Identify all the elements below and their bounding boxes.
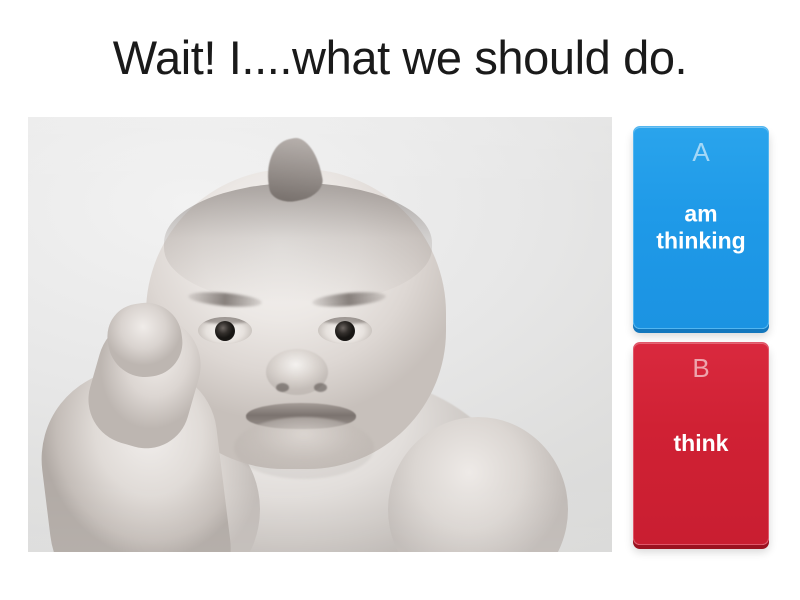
baby-illustration [28, 117, 612, 552]
baby-pupil-left [215, 321, 235, 341]
answer-card-a[interactable]: A am thinking [633, 126, 769, 329]
photo-image [28, 117, 612, 552]
baby-nostril-right [314, 383, 327, 392]
baby-chin [234, 417, 374, 479]
answer-text-b: think [634, 430, 768, 458]
answer-list: A am thinking B think [633, 126, 769, 548]
baby-eye-left [198, 317, 252, 344]
answer-letter-a: A [634, 139, 768, 165]
answer-card-b[interactable]: B think [633, 342, 769, 545]
page-title: Wait! I....what we should do. [0, 30, 800, 85]
answer-letter-b: B [634, 355, 768, 381]
baby-eye-right [318, 317, 372, 344]
baby-nostril-left [276, 383, 289, 392]
baby-hairline [164, 183, 432, 303]
question-image [28, 117, 612, 552]
answer-text-a: am thinking [634, 200, 768, 255]
baby-pupil-right [335, 321, 355, 341]
